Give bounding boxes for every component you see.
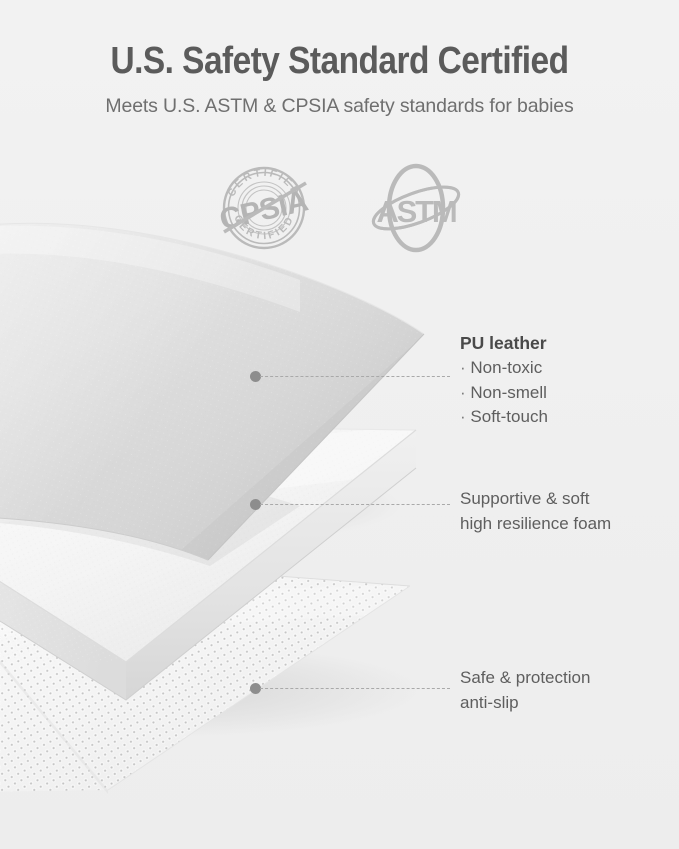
callout-foam: Supportive & soft high resilience foam (460, 487, 611, 536)
callout-anti-slip-line-2: anti-slip (460, 691, 590, 716)
bullet-icon: · (460, 383, 466, 402)
leader-dash-pu-leather (260, 376, 450, 377)
callout-pu-leather-item-3-label: Soft-touch (470, 407, 548, 426)
bullet-icon: · (460, 407, 466, 426)
callout-foam-line-1: Supportive & soft (460, 487, 611, 512)
bullet-icon: · (460, 358, 466, 377)
callout-pu-leather-item-2: · Non-smell (460, 381, 548, 406)
callout-pu-leather-item-1-label: Non-toxic (470, 358, 542, 377)
callout-anti-slip-line-1: Safe & protection (460, 666, 590, 691)
callout-pu-leather-title: PU leather (460, 331, 548, 356)
callout-pu-leather-item-3: · Soft-touch (460, 405, 548, 430)
callout-foam-line-2: high resilience foam (460, 512, 611, 537)
callout-pu-leather-item-1: · Non-toxic (460, 356, 548, 381)
leader-dash-foam (260, 504, 450, 505)
callout-pu-leather-item-2-label: Non-smell (470, 383, 547, 402)
callout-annotations: PU leather · Non-toxic · Non-smell · Sof… (0, 0, 679, 849)
callout-pu-leather: PU leather · Non-toxic · Non-smell · Sof… (460, 331, 548, 430)
infographic-canvas: U.S. Safety Standard Certified Meets U.S… (0, 0, 679, 849)
leader-dash-anti-slip (260, 688, 450, 689)
callout-anti-slip: Safe & protection anti-slip (460, 666, 590, 715)
